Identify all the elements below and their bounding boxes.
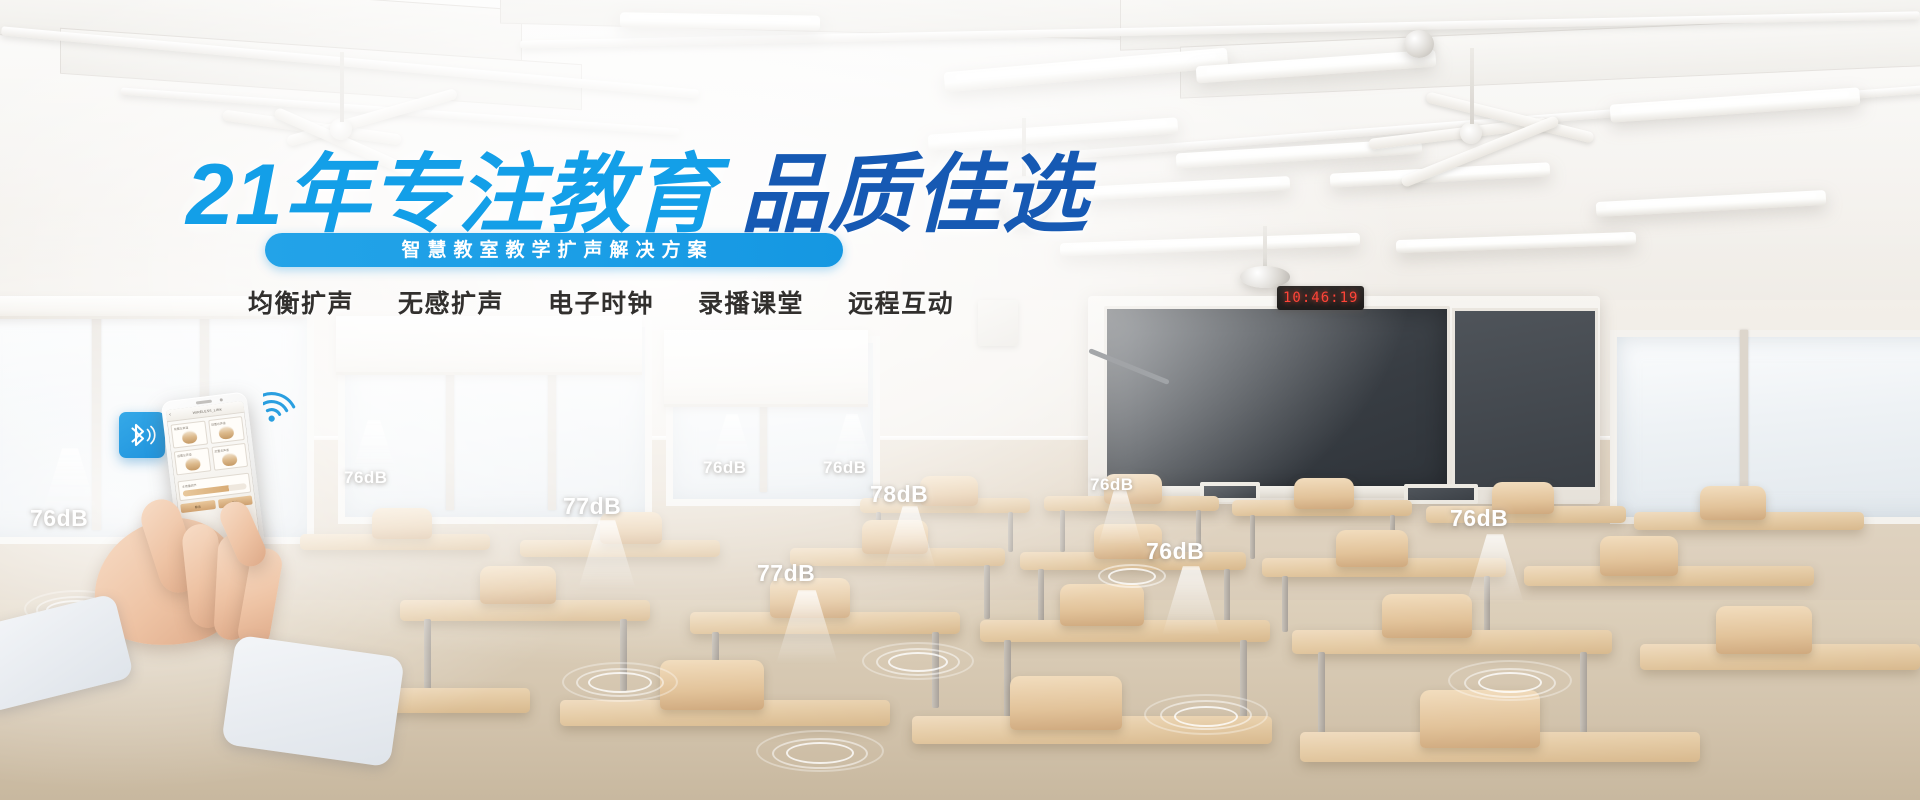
- zone-dial[interactable]: [184, 457, 200, 472]
- subtitle-pill-label: 智慧教室教学扩声解决方案: [394, 241, 713, 260]
- subtitle-pill: 智慧教室教学扩声解决方案: [265, 233, 843, 267]
- chevron-left-icon[interactable]: ‹: [169, 413, 171, 418]
- wall-speaker-box: [978, 300, 1018, 346]
- feature-item-5: 远程互动: [848, 284, 954, 320]
- wifi-arcs: [263, 381, 309, 430]
- db-label-3: 77dB: [563, 493, 621, 520]
- clock-time: 10:46:19: [1283, 290, 1358, 306]
- db-label-9: 76dB: [1090, 475, 1134, 495]
- wifi-signal-icon: [263, 381, 309, 425]
- feature-item-1: 均衡扩声: [248, 284, 354, 320]
- zone-card-1[interactable]: 前置左声道: [170, 421, 207, 449]
- db-label-10: 76dB: [1450, 505, 1508, 532]
- zone-card-4[interactable]: 后置右声道: [211, 443, 248, 471]
- db-label-2: 76dB: [344, 468, 388, 488]
- db-label-8: 76dB: [1146, 538, 1204, 565]
- zone-card-2[interactable]: 前置右声道: [208, 416, 245, 444]
- app-button-1[interactable]: 静音: [180, 500, 215, 513]
- app-screen[interactable]: ‹ WIRELESS_LINK 前置左声道前置右声道后置左声道后置右声道 主音量…: [166, 401, 260, 548]
- db-label-6: 78dB: [870, 481, 928, 508]
- banner-stage: 10:46:19 76dB76dB7: [0, 0, 1920, 800]
- headline-part-1: 21年专注教育: [186, 147, 719, 243]
- bluetooth-badge[interactable]: [119, 412, 165, 458]
- feature-item-4: 录播课堂: [698, 284, 804, 320]
- db-label-7: 77dB: [757, 560, 815, 587]
- led-clock: 10:46:19: [1277, 286, 1364, 310]
- phone-earpiece: [196, 400, 212, 404]
- page-title: 21年专注教育品质佳选: [186, 152, 1089, 238]
- feature-item-3: 电子时钟: [548, 284, 654, 320]
- db-label-1: 76dB: [30, 505, 88, 532]
- feature-item-2: 无感扩声: [398, 284, 504, 320]
- zone-grid: 前置左声道前置右声道后置左声道后置右声道: [167, 413, 251, 479]
- bluetooth-icon: [127, 422, 157, 448]
- headline-part-2: 品质佳选: [741, 147, 1089, 243]
- zone-dial[interactable]: [218, 425, 234, 440]
- zone-card-3[interactable]: 后置左声道: [174, 447, 211, 475]
- db-label-5: 76dB: [823, 458, 867, 478]
- zone-dial[interactable]: [181, 430, 197, 445]
- app-button-2[interactable]: 确认: [217, 495, 252, 508]
- db-label-4: 76dB: [703, 458, 747, 478]
- phone-camera: [220, 398, 223, 401]
- feature-list: 均衡扩声无感扩声电子时钟录播课堂远程互动: [248, 284, 954, 320]
- zone-dial[interactable]: [222, 452, 238, 467]
